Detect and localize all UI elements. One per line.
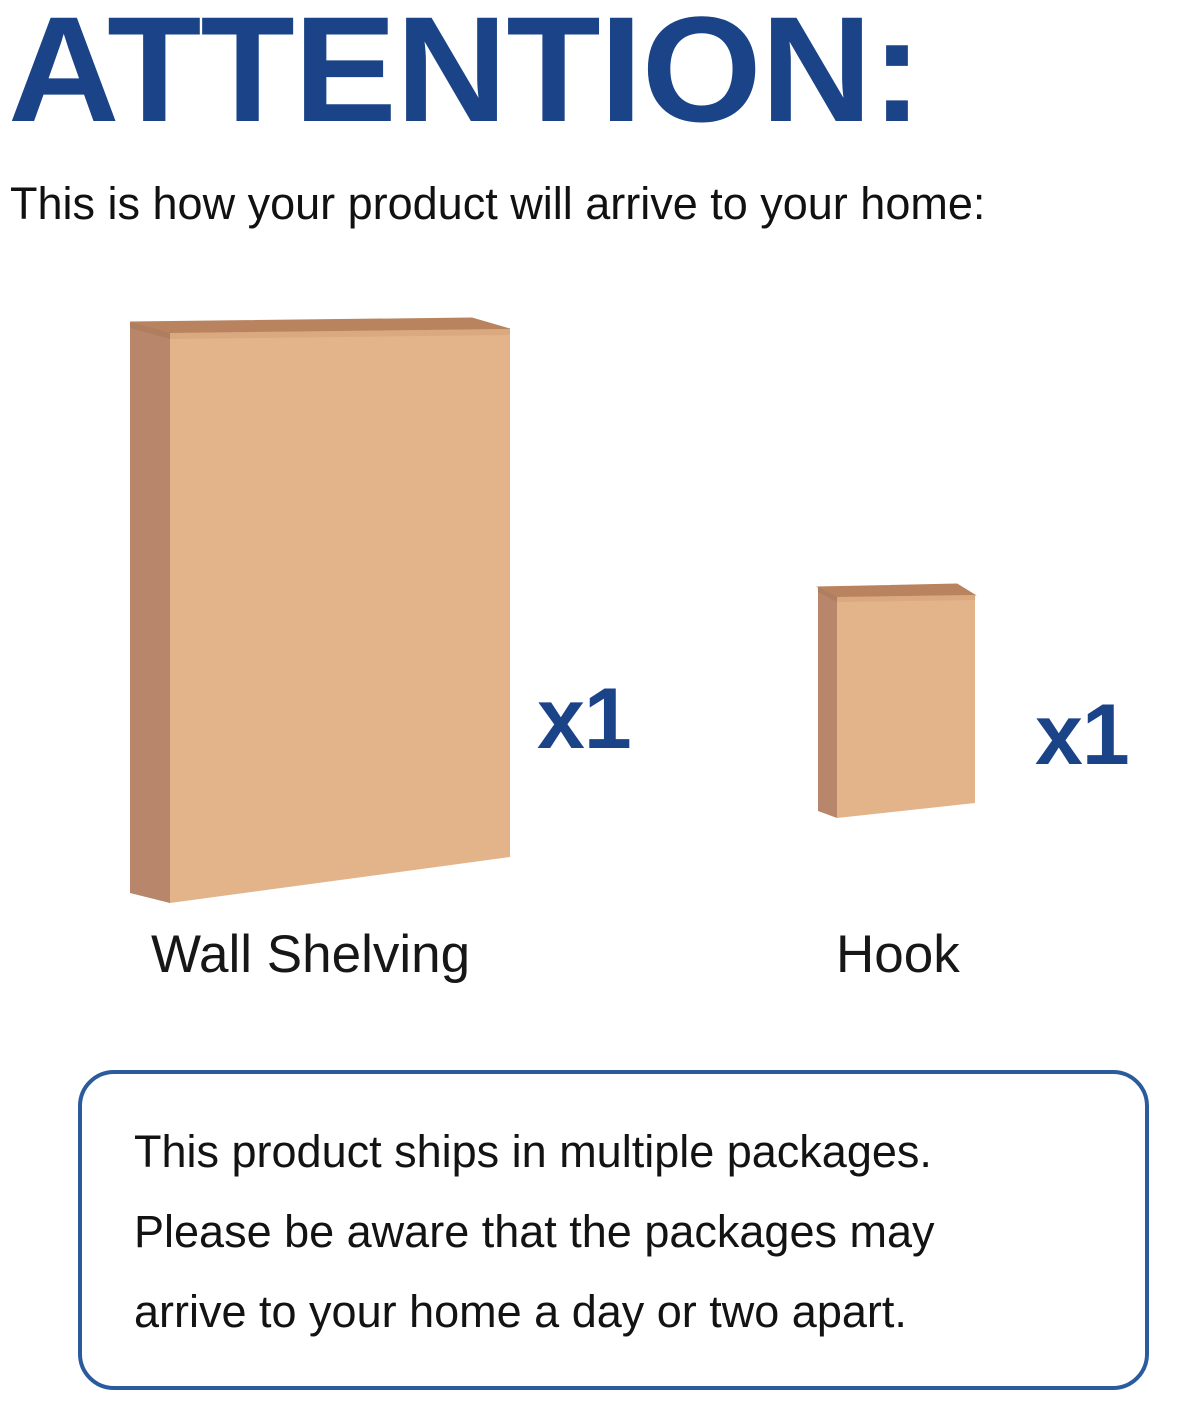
cardboard-box-icon bbox=[805, 575, 995, 835]
package-count-hook: x1 bbox=[1035, 692, 1129, 778]
package-count-wall-shelving: x1 bbox=[537, 676, 631, 762]
notice-line-2: Please be aware that the packages may bbox=[134, 1192, 1119, 1272]
shipping-notice-box: This product ships in multiple packages.… bbox=[78, 1070, 1149, 1390]
package-label-wall-shelving: Wall Shelving bbox=[151, 928, 470, 981]
notice-line-3: arrive to your home a day or two apart. bbox=[134, 1272, 1119, 1352]
packages-illustration: x1 Wall Shelving x1 Hook bbox=[0, 0, 1179, 1010]
cardboard-box-icon bbox=[110, 305, 520, 865]
notice-line-1: This product ships in multiple packages. bbox=[134, 1112, 1119, 1192]
shipping-notice-text: This product ships in multiple packages.… bbox=[134, 1112, 1119, 1352]
package-label-hook: Hook bbox=[836, 928, 960, 981]
